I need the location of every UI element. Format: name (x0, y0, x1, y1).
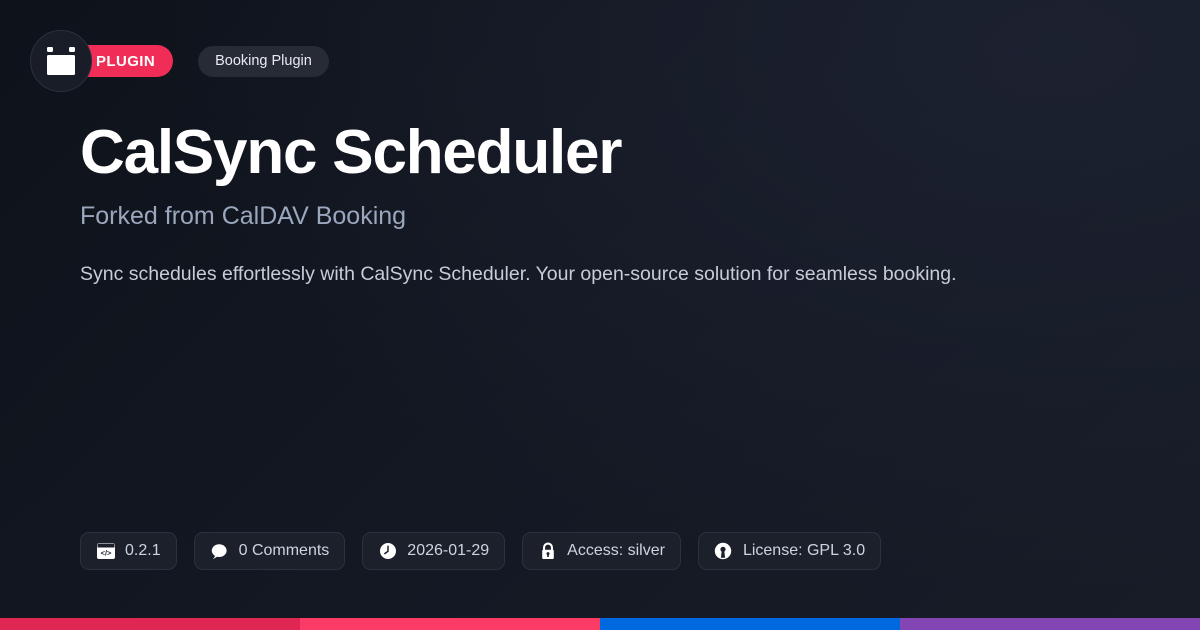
meta-pill-date: 2026-01-29 (362, 532, 505, 570)
lock-icon (538, 542, 557, 561)
stripe-segment-2 (300, 618, 600, 630)
stripe-segment-1 (0, 618, 300, 630)
meta-label: 0 Comments (239, 543, 330, 559)
meta-pill-row: </> 0.2.1 0 Comments 2026-01-29 (80, 532, 881, 570)
open-source-icon (714, 542, 733, 561)
meta-label: Access: silver (567, 543, 665, 559)
stripe-segment-4 (900, 618, 1200, 630)
calendar-icon (45, 46, 77, 76)
hero-text-block: CalSync Scheduler Forked from CalDAV Boo… (80, 120, 1120, 291)
page-subtitle: Forked from CalDAV Booking (80, 201, 1120, 231)
meta-label: 2026-01-29 (407, 543, 489, 559)
stripe-segment-3 (600, 618, 900, 630)
header-row: PLUGIN Booking Plugin (30, 30, 329, 92)
meta-pill-comments: 0 Comments (194, 532, 346, 570)
meta-label: 0.2.1 (125, 543, 161, 559)
avatar (30, 30, 92, 92)
hero-card: PLUGIN Booking Plugin CalSync Scheduler … (0, 0, 1200, 630)
meta-pill-version: </> 0.2.1 (80, 532, 177, 570)
meta-pill-license: License: GPL 3.0 (698, 532, 881, 570)
page-title: CalSync Scheduler (80, 120, 1120, 187)
page-description: Sync schedules effortlessly with CalSync… (80, 258, 1065, 291)
category-tag[interactable]: Booking Plugin (198, 46, 329, 77)
clock-icon (378, 542, 397, 561)
badge-cluster: PLUGIN (30, 30, 173, 92)
svg-text:</>: </> (100, 548, 111, 557)
comment-bubble-icon (210, 542, 229, 561)
accent-stripe (0, 618, 1200, 630)
meta-pill-access: Access: silver (522, 532, 681, 570)
code-window-icon: </> (96, 542, 115, 561)
meta-label: License: GPL 3.0 (743, 543, 865, 559)
